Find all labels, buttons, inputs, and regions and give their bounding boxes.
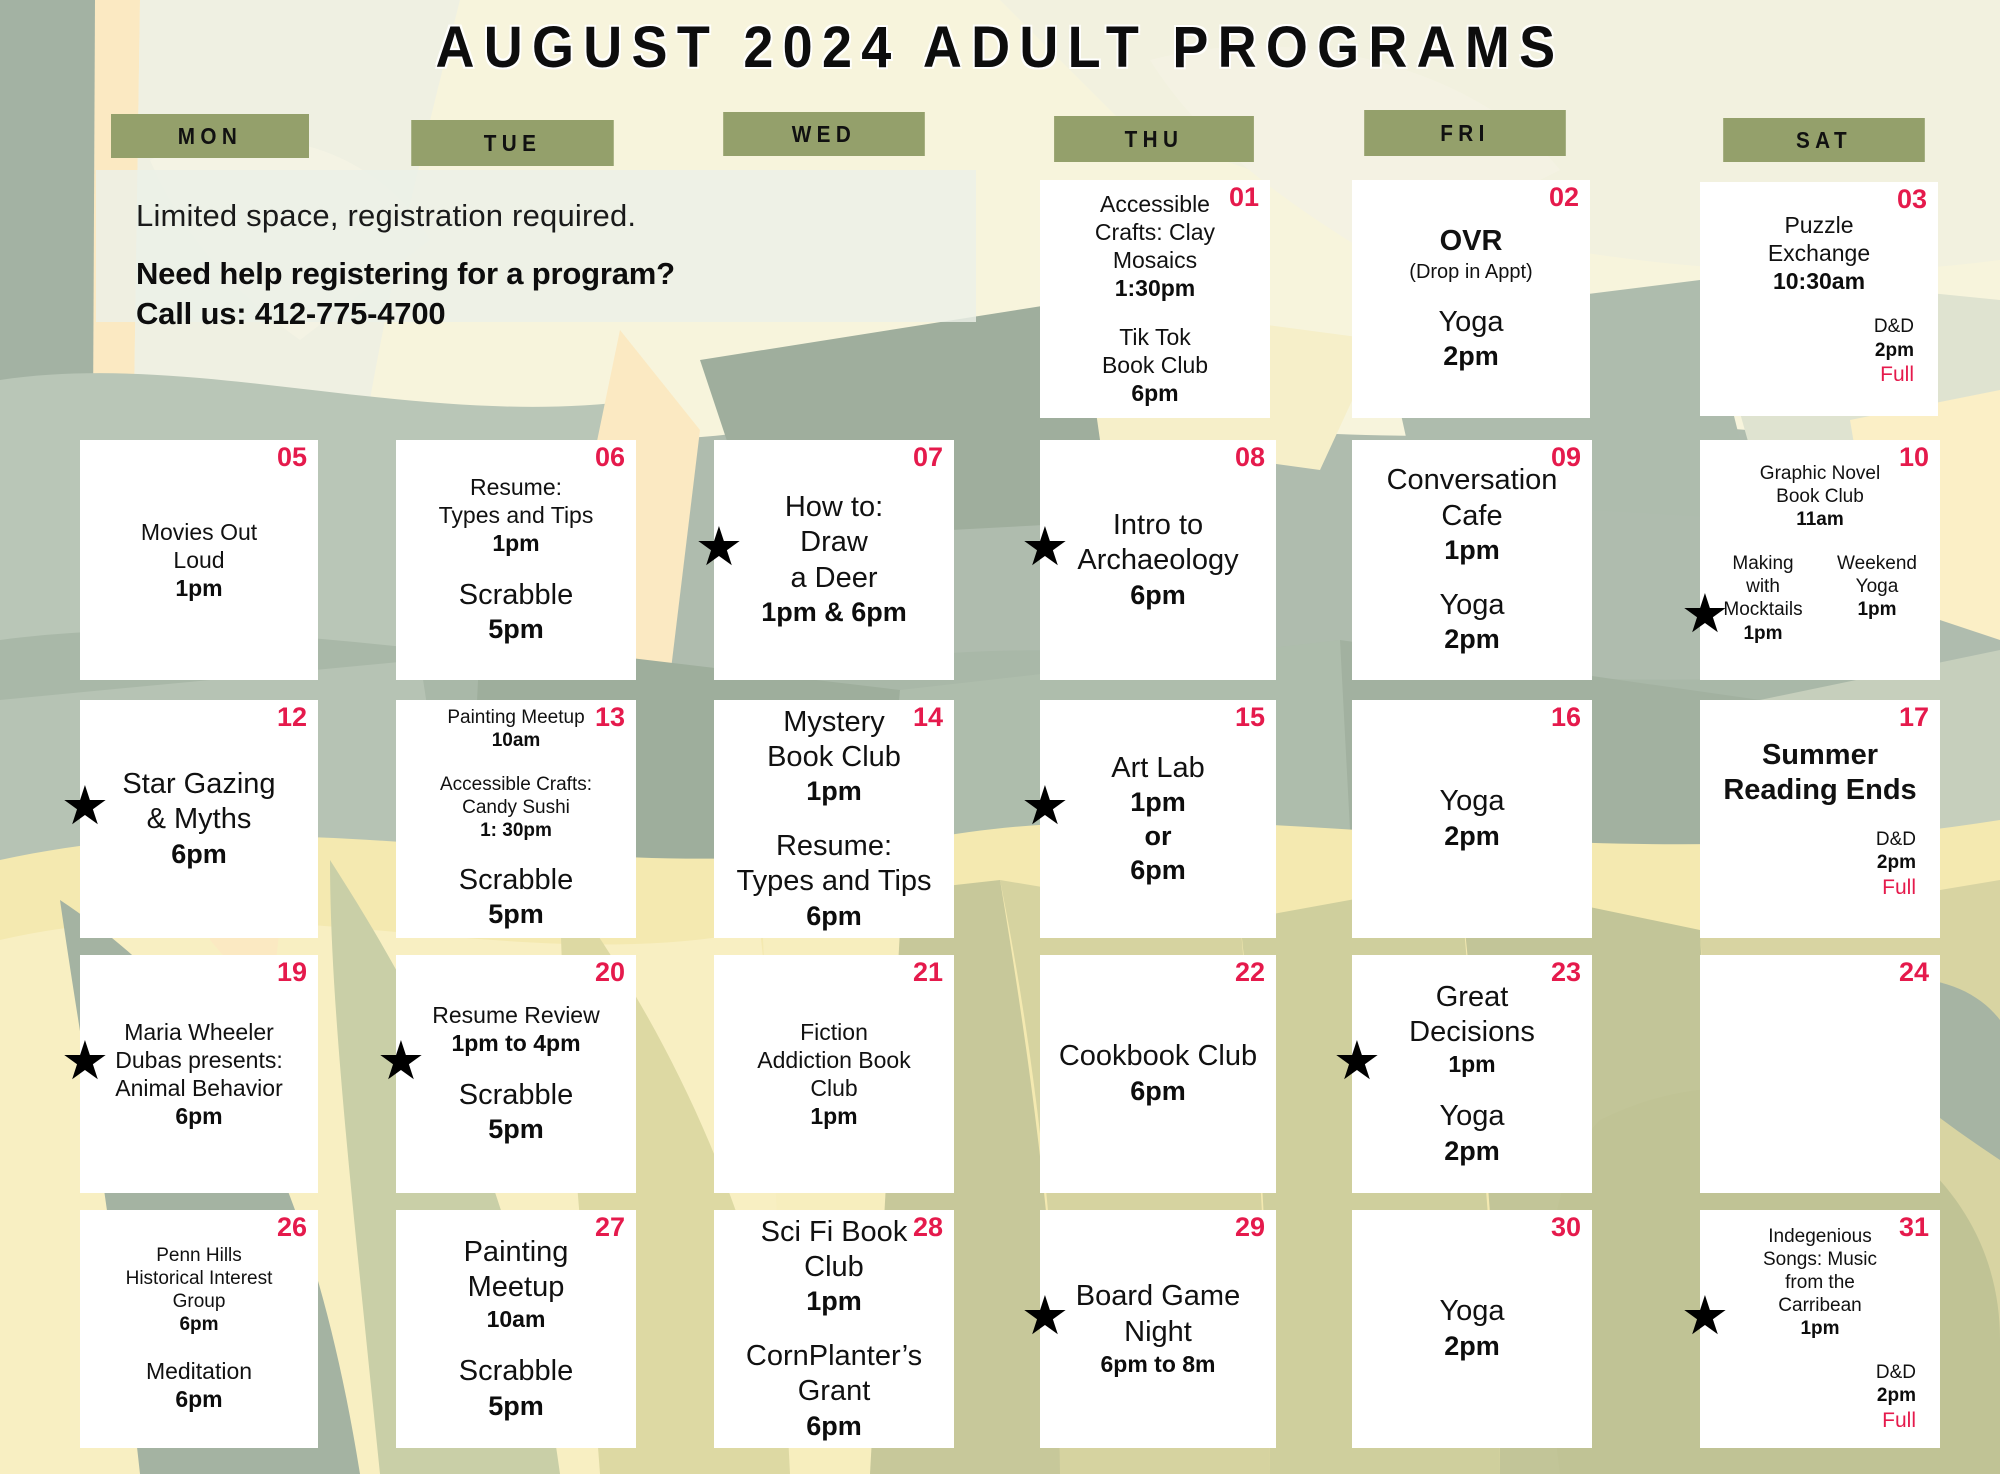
day-cell-inner: 02OVR(Drop in Appt)Yoga2pm [1352,180,1590,418]
calendar-page: AUGUST 2024 ADULT PROGRAMS MON TUE WED T… [0,0,2000,1474]
event-title: Yoga [1360,305,1582,340]
event-title: Penn HillsHistorical InterestGroup [88,1244,310,1314]
event-title: Painting Meetup [404,706,628,729]
event-title: Art Lab [1048,751,1268,786]
event-entry: Intro toArchaeology6pm [1048,508,1268,613]
day-cell-08[interactable]: 08Intro toArchaeology6pm★ [1040,440,1276,680]
event-entry: Star Gazing& Myths6pm [88,767,310,872]
event-list: ConversationCafe1pmYoga2pm [1360,446,1584,674]
event-title: D&D [1708,1361,1916,1384]
day-header-wed: WED [723,112,925,156]
event-title: Graphic NovelBook Club [1708,462,1932,508]
event-title: Meditation [88,1357,310,1385]
event-entry: Board Game Night6pm to 8m [1048,1279,1268,1379]
day-cell-31[interactable]: 31IndegeniousSongs: Musicfrom theCarribe… [1700,1210,1940,1448]
event-title: Accessible Crafts:Candy Sushi [404,773,628,819]
day-cell-17[interactable]: 17SummerReading EndsD&D2pmFull [1700,700,1940,938]
day-header-label: THU [1125,126,1184,153]
event-time: 1pm [1708,622,1818,646]
event-time: 10:30am [1708,267,1930,296]
day-header-fri: FRI [1364,110,1566,156]
event-list: FictionAddiction BookClub1pm [722,961,946,1187]
event-entry: CornPlanter’sGrant6pm [722,1339,946,1444]
event-list: OVR(Drop in Appt)Yoga2pm [1360,186,1582,412]
event-time: 5pm [404,1113,628,1147]
event-list: How to:Drawa Deer1pm & 6pm [722,446,946,674]
event-title: Yoga [1360,1099,1584,1134]
event-list: AccessibleCrafts: ClayMosaics1:30pmTik T… [1048,186,1262,412]
day-cell-inner: 10Graphic NovelBook Club11amMakingwithMo… [1700,440,1940,680]
info-line-2: Need help registering for a program? [136,254,976,294]
event-entry: Accessible Crafts:Candy Sushi1: 30pm [404,773,628,843]
day-cell-01[interactable]: 01AccessibleCrafts: ClayMosaics1:30pmTik… [1040,180,1270,418]
event-list: PuzzleExchange10:30amD&D2pmFull [1708,188,1930,410]
event-time: 1pm to 4pm [404,1029,628,1058]
day-cell-22[interactable]: 22Cookbook Club6pm [1040,955,1276,1193]
event-list: Painting Meetup10amAccessible Crafts:Can… [404,706,628,932]
event-title: Scrabble [404,863,628,898]
day-cell-21[interactable]: 21FictionAddiction BookClub1pm [714,955,954,1193]
event-time: 6pm [88,1385,310,1414]
event-list: Maria WheelerDubas presents:Animal Behav… [88,961,310,1187]
event-entry: FictionAddiction BookClub1pm [722,1018,946,1131]
day-cell-30[interactable]: 30Yoga2pm [1352,1210,1592,1448]
event-list: MysteryBook Club1pmResume:Types and Tips… [722,706,946,932]
event-title: ConversationCafe [1360,463,1584,534]
day-cell-inner: 07How to:Drawa Deer1pm & 6pm★ [714,440,954,680]
event-title: Resume Review [404,1001,628,1029]
day-cell-inner: 05Movies OutLoud1pm [80,440,318,680]
event-time: 6pm [1048,579,1268,613]
event-time: 1pm [1360,534,1584,568]
event-title: Intro toArchaeology [1048,508,1268,579]
day-cell-inner: 09ConversationCafe1pmYoga2pm [1352,440,1592,680]
event-title: OVR [1360,224,1582,259]
event-list: Resume:Types and Tips1pmScrabble5pm [404,446,628,674]
day-header-label: WED [792,121,857,148]
event-title: Resume:Types and Tips [722,829,946,900]
event-time: 2pm [1708,339,1914,363]
day-header-label: SAT [1796,127,1852,154]
event-entry: AccessibleCrafts: ClayMosaics1:30pm [1048,190,1262,303]
day-header-thu: THU [1054,116,1254,162]
event-time: 2pm [1360,1135,1584,1169]
event-list: Art Lab1pmor6pm [1048,706,1268,932]
event-entry: Tik TokBook Club6pm [1048,323,1262,408]
day-header-sat: SAT [1723,118,1925,162]
event-title: How to:Drawa Deer [722,490,946,596]
day-cell-inner: 24 [1700,955,1940,1193]
info-line-1: Limited space, registration required. [136,198,976,234]
event-entry: OVR(Drop in Appt) [1360,224,1582,284]
event-title: Cookbook Club [1048,1039,1268,1074]
event-time: 2pm [1360,1330,1584,1364]
registration-info-box: Limited space, registration required. Ne… [96,170,976,322]
event-entry: Sci Fi BookClub1pm [722,1215,946,1320]
event-time: 5pm [404,613,628,647]
event-time: 10am [404,729,628,753]
page-title: AUGUST 2024 ADULT PROGRAMS [70,14,1930,81]
event-time: 6pm [1048,1075,1268,1109]
day-cell-inner: 03PuzzleExchange10:30amD&D2pmFull [1700,182,1938,416]
event-title: Tik TokBook Club [1048,323,1262,379]
event-entry: Resume:Types and Tips6pm [722,829,946,934]
event-title: Yoga [1360,1294,1584,1329]
event-title: Scrabble [404,578,628,613]
day-cell-inner: 15Art Lab1pmor6pm★ [1040,700,1276,938]
day-cell-14[interactable]: 14MysteryBook Club1pmResume:Types and Ti… [714,700,954,938]
day-header-label: FRI [1440,120,1490,147]
event-split-column: WeekendYoga1pm [1822,552,1932,622]
event-entry: Painting Meetup10am [404,706,628,753]
day-cell-05[interactable]: 05Movies OutLoud1pm [80,440,318,680]
event-title: Sci Fi BookClub [722,1215,946,1286]
day-cell-27[interactable]: 27PaintingMeetup10amScrabble5pm [396,1210,636,1448]
day-cell-19[interactable]: 19Maria WheelerDubas presents:Animal Beh… [80,955,318,1193]
event-subtitle: (Drop in Appt) [1360,260,1582,285]
event-entry: Scrabble5pm [404,863,628,932]
event-entry: D&D2pmFull [1708,828,1932,900]
event-title: D&D [1708,315,1914,338]
event-full-badge: Full [1708,1408,1916,1433]
day-header-label: MON [178,123,243,150]
event-entry: WeekendYoga1pm [1822,552,1932,622]
event-entry: MakingwithMocktails1pm [1708,552,1818,645]
event-title: IndegeniousSongs: Musicfrom theCarribean [1708,1225,1932,1318]
event-time: 6pm [722,900,946,934]
event-entry: How to:Drawa Deer1pm & 6pm [722,490,946,630]
event-entry: Movies OutLoud1pm [88,518,310,603]
day-header-mon: MON [111,114,309,158]
event-entry: D&D2pmFull [1708,1361,1932,1433]
day-cell-inner: 06Resume:Types and Tips1pmScrabble5pm [396,440,636,680]
day-cell-inner: 12Star Gazing& Myths6pm★ [80,700,318,938]
event-entry: ConversationCafe1pm [1360,463,1584,568]
event-entry: Graphic NovelBook Club11am [1708,462,1932,532]
day-cell-10[interactable]: 10Graphic NovelBook Club11amMakingwithMo… [1700,440,1940,680]
day-cell-inner: 19Maria WheelerDubas presents:Animal Beh… [80,955,318,1193]
event-list: Penn HillsHistorical InterestGroup6pmMed… [88,1216,310,1442]
event-list: Intro toArchaeology6pm [1048,446,1268,674]
event-time: 10am [404,1305,628,1334]
day-cell-09[interactable]: 09ConversationCafe1pmYoga2pm [1352,440,1592,680]
day-cell-inner: 23GreatDecisions1pmYoga2pm★ [1352,955,1592,1193]
event-entry: GreatDecisions1pm [1360,980,1584,1080]
event-time: 6pm [88,1313,310,1337]
event-list: PaintingMeetup10amScrabble5pm [404,1216,628,1442]
day-cell-16[interactable]: 16Yoga2pm [1352,700,1592,938]
event-entry: PaintingMeetup10am [404,1235,628,1335]
event-list: Cookbook Club6pm [1048,961,1268,1187]
event-time: 2pm [1708,1384,1916,1408]
event-time: 1pm [1822,598,1932,622]
event-time: 6pm to 8m [1048,1350,1268,1379]
day-cell-24[interactable]: 24 [1700,955,1940,1193]
event-title: Movies OutLoud [88,518,310,574]
event-time: 2pm [1360,340,1582,374]
event-entry: Penn HillsHistorical InterestGroup6pm [88,1244,310,1337]
event-title: Maria WheelerDubas presents:Animal Behav… [88,1018,310,1102]
event-time: 5pm [404,898,628,932]
event-list: Sci Fi BookClub1pmCornPlanter’sGrant6pm [722,1216,946,1442]
event-title: AccessibleCrafts: ClayMosaics [1048,190,1262,274]
event-title: CornPlanter’sGrant [722,1339,946,1410]
event-entry: PuzzleExchange10:30am [1708,211,1930,296]
day-cell-inner: 20Resume Review1pm to 4pmScrabble5pm★ [396,955,636,1193]
event-full-badge: Full [1708,875,1916,900]
day-cell-inner: 14MysteryBook Club1pmResume:Types and Ti… [714,700,954,938]
event-time: 6pm [88,1102,310,1131]
day-cell-20[interactable]: 20Resume Review1pm to 4pmScrabble5pm★ [396,955,636,1193]
day-cell-inner: 31IndegeniousSongs: Musicfrom theCarribe… [1700,1210,1940,1448]
event-time: 2pm [1360,623,1584,657]
event-time: 1pmor6pm [1048,786,1268,887]
event-time: 11am [1708,508,1932,532]
day-cell-inner: 13Painting Meetup10amAccessible Crafts:C… [396,700,636,938]
event-title: PuzzleExchange [1708,211,1930,267]
event-entry: Resume:Types and Tips1pm [404,473,628,558]
day-cell-26[interactable]: 26Penn HillsHistorical InterestGroup6pmM… [80,1210,318,1448]
day-cell-inner: 30Yoga2pm [1352,1210,1592,1448]
day-cell-inner: 22Cookbook Club6pm [1040,955,1276,1193]
day-cell-03[interactable]: 03PuzzleExchange10:30amD&D2pmFull [1700,182,1938,416]
event-time: 6pm [1048,379,1262,408]
event-title: PaintingMeetup [404,1235,628,1306]
day-cell-06[interactable]: 06Resume:Types and Tips1pmScrabble5pm [396,440,636,680]
event-title: MysteryBook Club [722,705,946,776]
event-title: SummerReading Ends [1708,738,1932,809]
day-cell-29[interactable]: 29Board Game Night6pm to 8m★ [1040,1210,1276,1448]
event-split-row: MakingwithMocktails1pmWeekendYoga1pm [1708,552,1932,645]
event-time: 1:30pm [1048,274,1262,303]
event-split-column: MakingwithMocktails1pm [1708,552,1818,645]
event-entry: Maria WheelerDubas presents:Animal Behav… [88,1018,310,1131]
event-time: 2pm [1708,851,1916,875]
event-time: 5pm [404,1390,628,1424]
event-entry: Yoga2pm [1360,305,1582,374]
day-header-tue: TUE [411,120,614,166]
event-title: Scrabble [404,1078,628,1113]
event-entry: Scrabble5pm [404,1078,628,1147]
event-entry: IndegeniousSongs: Musicfrom theCarribean… [1708,1225,1932,1341]
event-entry: Yoga2pm [1360,588,1584,657]
event-title: FictionAddiction BookClub [722,1018,946,1102]
day-cell-28[interactable]: 28Sci Fi BookClub1pmCornPlanter’sGrant6p… [714,1210,954,1448]
day-cell-inner: 27PaintingMeetup10amScrabble5pm [396,1210,636,1448]
event-full-badge: Full [1708,362,1914,387]
event-entry: Scrabble5pm [404,578,628,647]
day-cell-07[interactable]: 07How to:Drawa Deer1pm & 6pm★ [714,440,954,680]
event-entry: Meditation6pm [88,1357,310,1414]
event-entry: Scrabble5pm [404,1354,628,1423]
event-entry: Resume Review1pm to 4pm [404,1001,628,1058]
event-title: Scrabble [404,1354,628,1389]
event-list: Star Gazing& Myths6pm [88,706,310,932]
event-title: GreatDecisions [1360,980,1584,1051]
event-entry: Yoga2pm [1360,1099,1584,1168]
day-cell-inner: 01AccessibleCrafts: ClayMosaics1:30pmTik… [1040,180,1270,418]
day-cell-inner: 08Intro toArchaeology6pm★ [1040,440,1276,680]
day-cell-23[interactable]: 23GreatDecisions1pmYoga2pm★ [1352,955,1592,1193]
event-list: IndegeniousSongs: Musicfrom theCarribean… [1708,1216,1932,1442]
event-time: 1: 30pm [404,819,628,843]
event-time: 1pm & 6pm [722,596,946,630]
event-entry: MysteryBook Club1pm [722,705,946,810]
day-cell-inner: 26Penn HillsHistorical InterestGroup6pmM… [80,1210,318,1448]
event-time: 1pm [88,574,310,603]
day-cell-inner: 21FictionAddiction BookClub1pm [714,955,954,1193]
event-entry: Yoga2pm [1360,784,1584,853]
event-title: Yoga [1360,784,1584,819]
info-line-3: Call us: 412-775-4700 [136,294,976,334]
event-title: D&D [1708,828,1916,851]
event-time: 1pm [722,1285,946,1319]
event-title: Resume:Types and Tips [404,473,628,529]
event-time: 1pm [1360,1050,1584,1079]
day-cell-inner: 16Yoga2pm [1352,700,1592,938]
event-title: WeekendYoga [1822,552,1932,598]
event-time: 2pm [1360,820,1584,854]
day-cell-02[interactable]: 02OVR(Drop in Appt)Yoga2pm [1352,180,1590,418]
event-entry: Art Lab1pmor6pm [1048,751,1268,888]
event-list: Yoga2pm [1360,1216,1584,1442]
event-list: GreatDecisions1pmYoga2pm [1360,961,1584,1187]
day-cell-inner: 17SummerReading EndsD&D2pmFull [1700,700,1940,938]
event-time: 1pm [722,775,946,809]
event-time: 1pm [722,1102,946,1131]
day-cell-15[interactable]: 15Art Lab1pmor6pm★ [1040,700,1276,938]
event-list [1708,961,1932,1187]
event-title: Board Game Night [1048,1279,1268,1350]
event-list: Graphic NovelBook Club11amMakingwithMock… [1708,446,1932,674]
event-title: Star Gazing& Myths [88,767,310,838]
event-entry: Cookbook Club6pm [1048,1039,1268,1108]
event-list: Yoga2pm [1360,706,1584,932]
day-cell-inner: 28Sci Fi BookClub1pmCornPlanter’sGrant6p… [714,1210,954,1448]
event-list: Movies OutLoud1pm [88,446,310,674]
event-time: 1pm [404,529,628,558]
day-cell-12[interactable]: 12Star Gazing& Myths6pm★ [80,700,318,938]
event-entry: D&D2pmFull [1708,315,1930,387]
day-cell-13[interactable]: 13Painting Meetup10amAccessible Crafts:C… [396,700,636,938]
day-header-label: TUE [484,130,542,157]
event-time: 6pm [722,1410,946,1444]
event-entry: Yoga2pm [1360,1294,1584,1363]
event-list: Board Game Night6pm to 8m [1048,1216,1268,1442]
event-time: 6pm [88,838,310,872]
day-cell-inner: 29Board Game Night6pm to 8m★ [1040,1210,1276,1448]
event-list: Resume Review1pm to 4pmScrabble5pm [404,961,628,1187]
event-title: Yoga [1360,588,1584,623]
event-title: MakingwithMocktails [1708,552,1818,622]
event-time: 1pm [1708,1317,1932,1341]
event-list: SummerReading EndsD&D2pmFull [1708,706,1932,932]
event-entry: SummerReading Ends [1708,738,1932,809]
